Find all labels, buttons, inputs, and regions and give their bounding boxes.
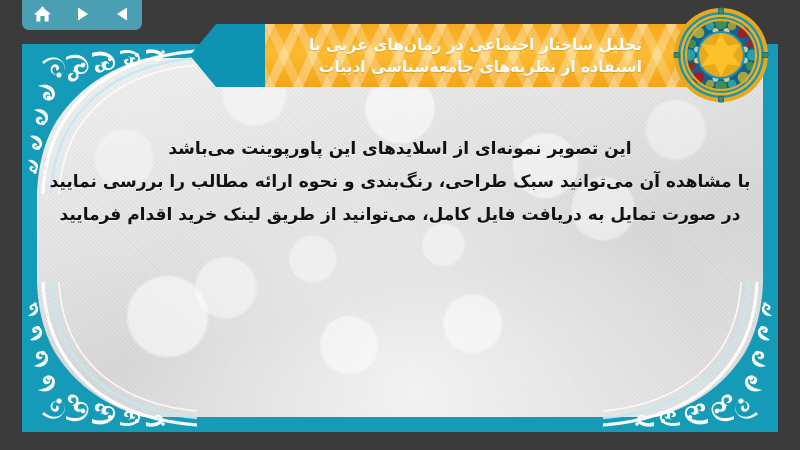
home-button[interactable] bbox=[29, 2, 55, 26]
triangle-left-icon bbox=[114, 6, 131, 22]
back-button[interactable] bbox=[109, 2, 135, 26]
title-line-2: استفاده از نظریه‌های جامعه‌شناسی ادبیات bbox=[279, 56, 642, 78]
persian-medallion-icon bbox=[673, 7, 769, 103]
body-line-2: با مشاهده آن می‌توانید سبک طراحی، رنگ‌بن… bbox=[46, 166, 754, 199]
slide-canvas: تحلیل ساختار اجتماعی در رمان‌های عربی با… bbox=[0, 0, 800, 450]
home-icon bbox=[33, 6, 52, 23]
triangle-right-icon bbox=[74, 6, 91, 22]
title-banner: تحلیل ساختار اجتماعی در رمان‌های عربی با… bbox=[265, 24, 720, 87]
body-line-3: در صورت تمایل به دریافت فایل کامل، می‌تو… bbox=[46, 199, 754, 232]
content-panel bbox=[37, 58, 763, 417]
body-text-block: این تصویر نمونه‌ای از اسلایدهای این پاور… bbox=[46, 133, 754, 232]
body-line-1: این تصویر نمونه‌ای از اسلایدهای این پاور… bbox=[46, 133, 754, 166]
forward-button[interactable] bbox=[69, 2, 95, 26]
ribbon-tail-icon bbox=[190, 24, 268, 87]
decorative-frame bbox=[22, 44, 778, 432]
navigation-bar bbox=[22, 0, 142, 30]
title-line-1: تحلیل ساختار اجتماعی در رمان‌های عربی با bbox=[279, 34, 642, 56]
